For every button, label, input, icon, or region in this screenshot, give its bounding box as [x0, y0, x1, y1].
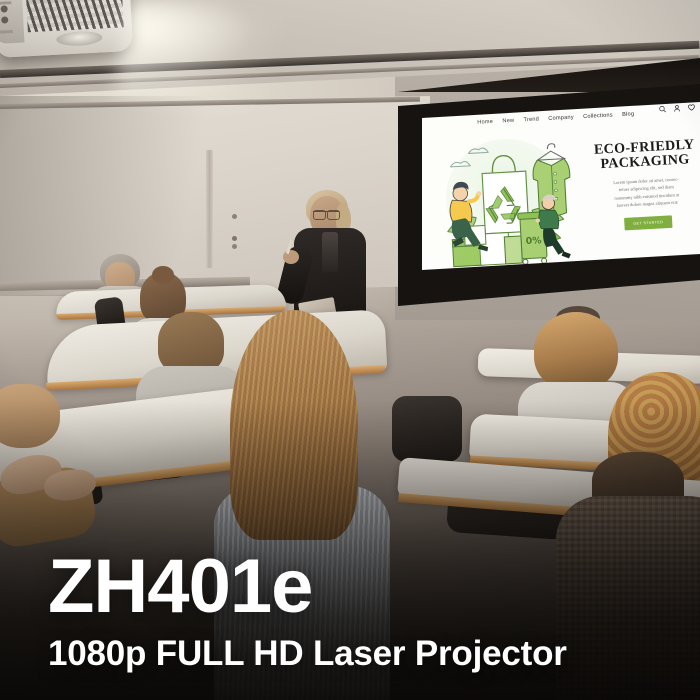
product-tagline: 1080p FULL HD Laser Projector [48, 634, 668, 674]
chair [392, 396, 462, 462]
product-name: ZH401e [48, 551, 668, 624]
whiteboard-divider [206, 150, 213, 268]
hero-heading-line-2: PACKAGING [594, 152, 697, 172]
nav-link-new[interactable]: New [502, 118, 514, 125]
account-icon[interactable] [673, 104, 681, 112]
illustration-svg: 0% [428, 128, 591, 270]
projection-screen-surface: Home New Trend Company Collections Blog [422, 102, 700, 270]
nav-link-blog[interactable]: Blog [622, 111, 634, 118]
ceiling-mounted-projector [0, 0, 133, 58]
wishlist-heart-icon[interactable] [688, 104, 696, 112]
student-hair-bun [152, 266, 174, 284]
site-icon-group [659, 104, 696, 113]
product-overlay-text: ZH401e 1080p FULL HD Laser Projector [48, 551, 668, 674]
search-icon[interactable] [659, 105, 667, 113]
eco-packaging-illustration: 0% [428, 128, 591, 270]
get-started-button[interactable]: GET STARTED [624, 215, 672, 230]
projector-vent-grille [26, 0, 124, 32]
svg-text:0%: 0% [525, 235, 542, 247]
student-hair [158, 312, 224, 374]
projected-website: Home New Trend Company Collections Blog [422, 102, 700, 270]
presenter-glasses-bridge [313, 211, 339, 219]
student-hair [534, 312, 618, 390]
hero-text-block: ECO-FRIEDLY PACKAGING Lorem ipsum dolor … [593, 137, 700, 231]
nav-link-trend[interactable]: Trend [523, 116, 539, 123]
student-hair-strands [230, 310, 358, 540]
hero-heading: ECO-FRIEDLY PACKAGING [593, 137, 696, 172]
attendee-head [0, 384, 60, 448]
get-started-label: GET STARTED [633, 220, 663, 226]
projector-mount-arm [0, 1, 13, 34]
nav-link-collections[interactable]: Collections [583, 112, 613, 120]
whiteboard-knob [232, 214, 237, 219]
hero-body-copy: Lorem ipsum dolor sit amet, consec- tetu… [595, 174, 698, 211]
presenter-shirt [322, 232, 338, 272]
projector-lens [56, 30, 103, 46]
product-hero-image: Home New Trend Company Collections Blog [0, 0, 700, 700]
nav-link-company[interactable]: Company [548, 114, 574, 122]
nav-link-home[interactable]: Home [477, 119, 493, 126]
